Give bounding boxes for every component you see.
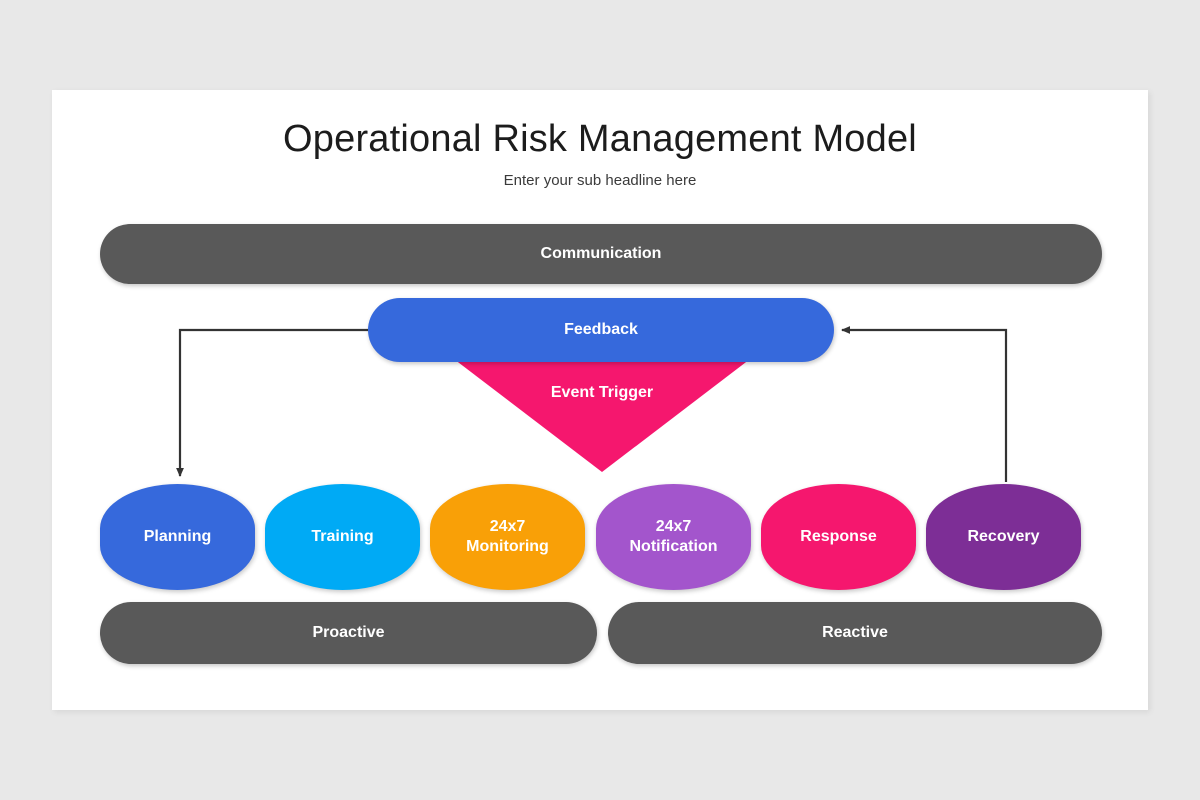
bar-proactive[interactable]: Proactive [100,602,597,664]
node-notification[interactable]: 24x7Notification [596,484,751,590]
event-trigger-triangle [450,356,754,472]
connector-recovery-to-feedback [842,330,1006,482]
bar-feedback[interactable]: Feedback [368,298,834,362]
bar-communication[interactable]: Communication [100,224,1102,284]
node-recovery-label: Recovery [961,527,1045,547]
bar-communication-label: Communication [541,245,662,263]
node-recovery[interactable]: Recovery [926,484,1081,590]
connector-feedback-to-planning [180,330,368,476]
bar-reactive[interactable]: Reactive [608,602,1102,664]
slide-canvas: Operational Risk Management Model Enter … [52,90,1148,710]
bar-feedback-label: Feedback [564,321,638,339]
bar-reactive-label: Reactive [822,624,888,642]
node-planning-label: Planning [138,527,218,547]
bar-proactive-label: Proactive [312,624,384,642]
node-training-label: Training [305,527,379,547]
event-trigger-label: Event Trigger [450,384,754,402]
event-trigger-shape[interactable]: Event Trigger [450,356,754,472]
node-response-label: Response [794,527,882,547]
node-monitoring[interactable]: 24x7Monitoring [430,484,585,590]
node-response[interactable]: Response [761,484,916,590]
node-monitoring-label: 24x7Monitoring [460,517,555,557]
page-subtitle: Enter your sub headline here [52,172,1148,189]
node-notification-label: 24x7Notification [624,517,724,557]
node-training[interactable]: Training [265,484,420,590]
node-planning[interactable]: Planning [100,484,255,590]
page-title: Operational Risk Management Model [52,118,1148,161]
